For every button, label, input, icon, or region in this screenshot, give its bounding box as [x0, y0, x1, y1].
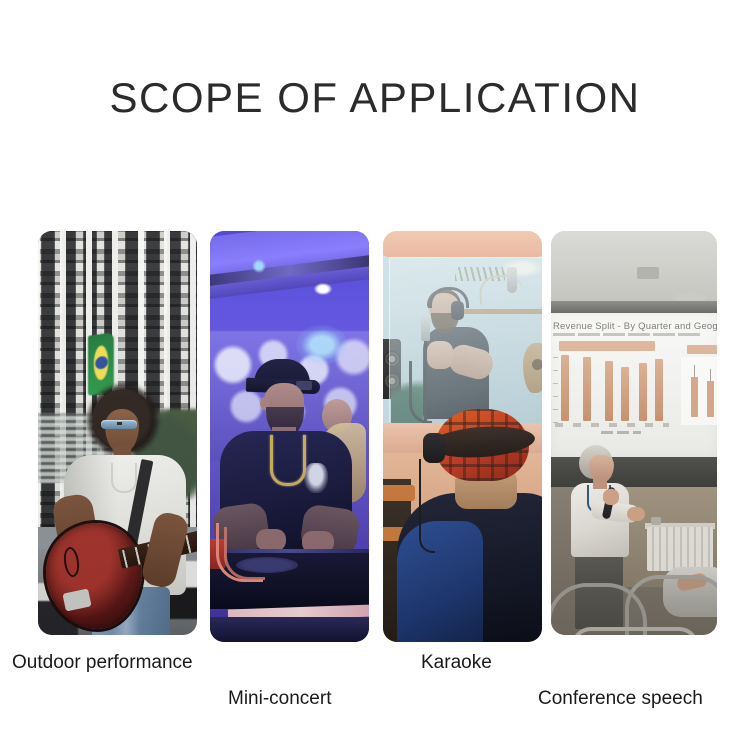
speaker-open-hand — [627, 507, 645, 521]
chart-x-axis-labels — [555, 423, 669, 427]
listener-headphone-cable — [419, 459, 435, 553]
secondary-chart-bar — [691, 377, 698, 417]
secondary-chart-bar — [707, 381, 714, 417]
chart-bar — [605, 361, 613, 421]
tshirt-graphic — [304, 463, 328, 493]
flight-case — [210, 617, 369, 642]
slide-title: Revenue Split - By Quarter and Geography — [553, 321, 717, 332]
spotlight-right — [314, 283, 332, 295]
brazilian-flag — [88, 332, 114, 396]
radiator-valve — [651, 517, 661, 525]
slide-header-band-right — [687, 345, 717, 354]
listener-blue-jacket — [397, 521, 483, 642]
image-panel-conference-speech: Revenue Split - By Quarter and Geography — [551, 231, 717, 635]
caption-outdoor-performance: Outdoor performance — [12, 652, 193, 674]
sunglasses-bridge — [117, 422, 122, 425]
chart-y-axis-labels — [553, 355, 558, 423]
light-halo — [296, 325, 348, 365]
slide-header-band — [559, 341, 655, 351]
chart-bar — [583, 357, 591, 421]
wooden-chair-top — [383, 485, 415, 501]
chart-bar — [639, 363, 647, 421]
slide-subtitle-lines — [553, 333, 703, 336]
chart-bar — [561, 355, 569, 421]
scene-conference-presentation: Revenue Split - By Quarter and Geography — [551, 231, 717, 635]
image-panel-mini-concert — [210, 231, 369, 642]
spotlight-left — [252, 259, 266, 273]
caption-karaoke: Karaoke — [421, 652, 492, 674]
chart-legend — [601, 431, 641, 434]
necklace — [111, 463, 137, 493]
speaker-neck — [593, 477, 607, 489]
page-title: SCOPE OF APPLICATION — [0, 74, 750, 122]
image-panel-karaoke — [383, 231, 542, 642]
scene-street-guitarist — [38, 231, 197, 635]
image-panel-outdoor-performance — [38, 231, 197, 635]
audio-cable-second — [224, 527, 265, 580]
scene-dj-performance — [210, 231, 369, 642]
speaker-mic-hand — [603, 489, 619, 505]
caption-conference-speech: Conference speech — [538, 688, 703, 710]
booth-glass-window — [389, 257, 542, 429]
chart-bar — [655, 359, 663, 421]
audience-chair-front — [571, 627, 699, 635]
ceiling-vent — [637, 267, 659, 279]
booth-ceiling — [383, 231, 542, 257]
scene-recording-studio — [383, 231, 542, 642]
chart-bar — [621, 367, 629, 421]
radiator — [647, 527, 713, 571]
caption-mini-concert: Mini-concert — [228, 688, 331, 710]
gold-chain-necklace — [270, 435, 306, 486]
